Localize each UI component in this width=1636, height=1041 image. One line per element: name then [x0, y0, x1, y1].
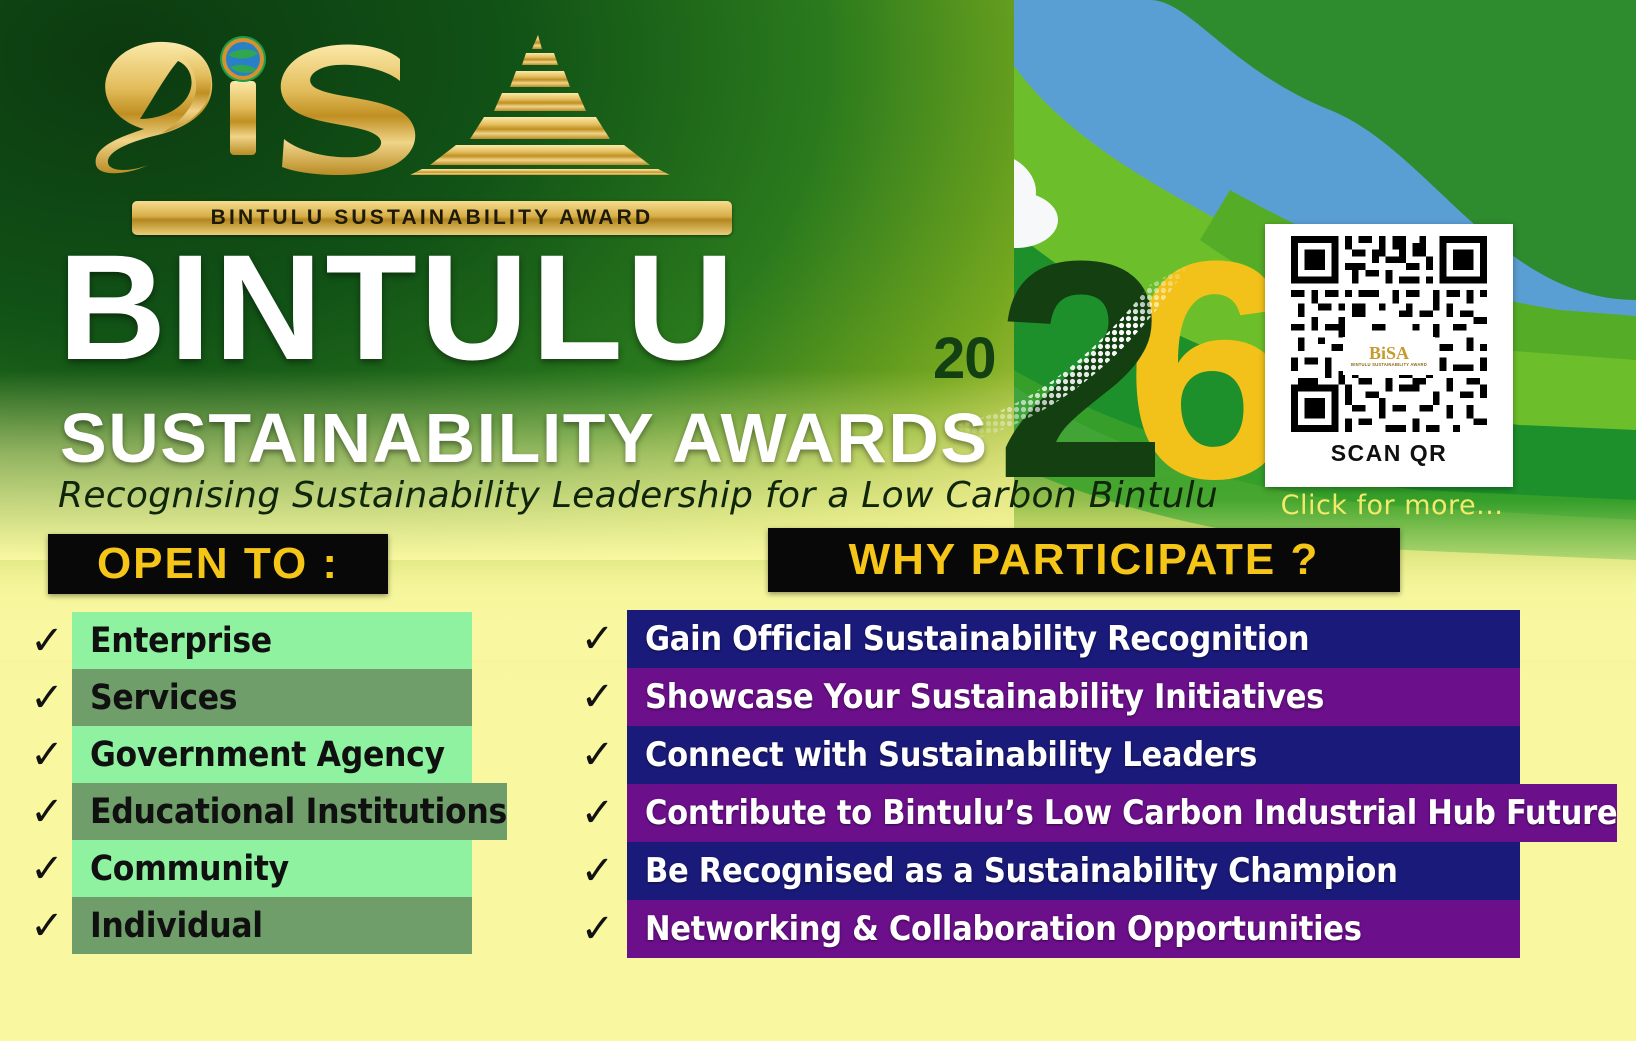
- open-to-item-row: ✓Educational Institutions: [22, 783, 472, 840]
- open-to-item-label: Enterprise: [90, 621, 272, 661]
- open-to-item-label: Individual: [90, 906, 263, 946]
- open-to-item-bar: Enterprise: [72, 612, 472, 669]
- qr-center-logo-text: BiSA: [1369, 344, 1409, 362]
- poster-subheadline: SUSTAINABILITY AWARDS: [60, 398, 989, 478]
- qr-caption: SCAN QR: [1277, 440, 1501, 467]
- why-participate-item-bar: Contribute to Bintulu’s Low Carbon Indus…: [627, 784, 1617, 842]
- check-icon: ✓: [22, 678, 72, 718]
- open-to-item-row: ✓Community: [22, 840, 472, 897]
- why-participate-item-row: ✓Contribute to Bintulu’s Low Carbon Indu…: [568, 784, 1520, 842]
- why-participate-item-bar: Networking & Collaboration Opportunities: [627, 900, 1520, 958]
- open-to-item-bar: Individual: [72, 897, 472, 954]
- why-participate-item-label: Networking & Collaboration Opportunities: [645, 909, 1362, 949]
- check-icon: ✓: [22, 906, 72, 946]
- why-participate-item-bar: Connect with Sustainability Leaders: [627, 726, 1520, 784]
- check-icon: ✓: [22, 792, 72, 832]
- why-participate-item-row: ✓Gain Official Sustainability Recognitio…: [568, 610, 1520, 668]
- why-participate-list: ✓Gain Official Sustainability Recognitio…: [568, 610, 1520, 958]
- why-participate-item-row: ✓Connect with Sustainability Leaders: [568, 726, 1520, 784]
- open-to-item-label: Government Agency: [90, 735, 445, 775]
- section-header-open-to-label: OPEN TO :: [97, 539, 339, 589]
- why-participate-item-row: ✓Showcase Your Sustainability Initiative…: [568, 668, 1520, 726]
- section-header-why-participate: WHY PARTICIPATE ?: [768, 528, 1400, 592]
- why-participate-item-bar: Showcase Your Sustainability Initiatives: [627, 668, 1520, 726]
- check-icon: ✓: [568, 735, 627, 775]
- open-to-item-bar: Services: [72, 669, 472, 726]
- qr-click-for-more-link[interactable]: Click for more...: [1272, 490, 1512, 521]
- why-participate-item-bar: Be Recognised as a Sustainability Champi…: [627, 842, 1520, 900]
- why-participate-item-bar: Gain Official Sustainability Recognition: [627, 610, 1520, 668]
- why-participate-item-row: ✓Be Recognised as a Sustainability Champ…: [568, 842, 1520, 900]
- open-to-item-row: ✓Government Agency: [22, 726, 472, 783]
- check-icon: ✓: [568, 677, 627, 717]
- open-to-list: ✓Enterprise✓Services✓Government Agency✓E…: [22, 612, 472, 954]
- bisa-logo[interactable]: BINTULU SUSTAINABILITY AWARD: [70, 25, 690, 220]
- check-icon: ✓: [22, 621, 72, 661]
- check-icon: ✓: [568, 909, 627, 949]
- open-to-item-row: ✓Enterprise: [22, 612, 472, 669]
- section-header-why-participate-label: WHY PARTICIPATE ?: [849, 535, 1320, 585]
- poster-root: BINTULU SUSTAINABILITY AWARD BINTULU SUS…: [0, 0, 1636, 1041]
- why-participate-item-label: Be Recognised as a Sustainability Champi…: [645, 851, 1398, 891]
- bisa-logo-mark: [70, 25, 690, 175]
- qr-center-logo: BiSA BINTULU SUSTAINABILITY AWARD: [1343, 337, 1435, 375]
- qr-center-logo-subtext: BINTULU SUSTAINABILITY AWARD: [1351, 362, 1427, 367]
- why-participate-item-label: Contribute to Bintulu’s Low Carbon Indus…: [645, 793, 1617, 833]
- open-to-item-label: Educational Institutions: [90, 792, 507, 832]
- check-icon: ✓: [568, 851, 627, 891]
- open-to-item-label: Community: [90, 849, 289, 889]
- why-participate-item-label: Gain Official Sustainability Recognition: [645, 619, 1309, 659]
- open-to-item-bar: Educational Institutions: [72, 783, 507, 840]
- open-to-item-row: ✓Individual: [22, 897, 472, 954]
- why-participate-item-label: Connect with Sustainability Leaders: [645, 735, 1257, 775]
- open-to-item-bar: Government Agency: [72, 726, 472, 783]
- why-participate-item-label: Showcase Your Sustainability Initiatives: [645, 677, 1324, 717]
- qr-code-card[interactable]: BiSA BINTULU SUSTAINABILITY AWARD SCAN Q…: [1265, 224, 1513, 487]
- open-to-item-bar: Community: [72, 840, 472, 897]
- check-icon: ✓: [568, 619, 627, 659]
- check-icon: ✓: [22, 735, 72, 775]
- qr-code-icon[interactable]: [1277, 236, 1501, 432]
- poster-headline: BINTULU: [58, 238, 737, 376]
- check-icon: ✓: [568, 793, 627, 833]
- section-header-open-to: OPEN TO :: [48, 534, 388, 594]
- halftone-swoosh-icon: [915, 245, 1215, 495]
- why-participate-item-row: ✓Networking & Collaboration Opportunitie…: [568, 900, 1520, 958]
- year-2026-graphic: 6 2 20: [915, 245, 1215, 495]
- open-to-item-label: Services: [90, 678, 237, 718]
- check-icon: ✓: [22, 849, 72, 889]
- open-to-item-row: ✓Services: [22, 669, 472, 726]
